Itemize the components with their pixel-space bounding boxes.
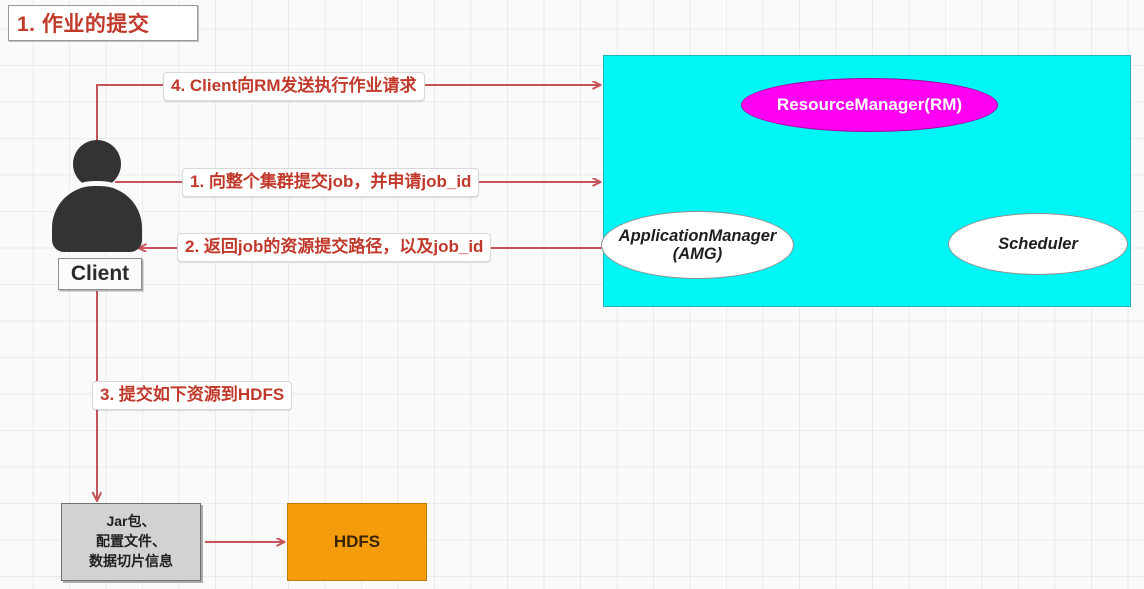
resources-line-1: Jar包、 [106, 512, 155, 532]
resources-line-2: 配置文件、 [96, 532, 166, 552]
client-person-icon [52, 140, 142, 255]
person-body-icon [52, 186, 142, 252]
diagram-canvas: 1. 作业的提交 Client ResourceManager(RM) Appl… [0, 0, 1144, 589]
flow-label-4: 4. Client向RM发送执行作业请求 [163, 72, 425, 101]
node-applicationmanager[interactable]: ApplicationManager (AMG) [601, 211, 794, 279]
resources-box: Jar包、 配置文件、 数据切片信息 [61, 503, 201, 581]
client-label-box: Client [58, 258, 142, 290]
resources-line-3: 数据切片信息 [89, 552, 173, 572]
page-title-text: 1. 作业的提交 [17, 8, 149, 38]
person-head-icon [73, 140, 121, 188]
hdfs-label: HDFS [334, 532, 380, 552]
node-applicationmanager-label-line2: (AMG) [673, 245, 722, 263]
resource-manager-container: ResourceManager(RM) ApplicationManager (… [603, 55, 1131, 307]
node-applicationmanager-label: ApplicationManager (AMG) [619, 227, 777, 264]
page-title: 1. 作业的提交 [8, 5, 198, 41]
hdfs-box: HDFS [287, 503, 427, 581]
node-applicationmanager-label-line1: ApplicationManager [619, 227, 777, 245]
node-resourcemanager-label: ResourceManager(RM) [777, 95, 962, 114]
flow-label-1: 1. 向整个集群提交job，并申请job_id [182, 168, 479, 197]
flow-label-3: 3. 提交如下资源到HDFS [92, 381, 292, 410]
flow-label-2: 2. 返回job的资源提交路径，以及job_id [177, 233, 491, 262]
node-resourcemanager[interactable]: ResourceManager(RM) [741, 78, 998, 132]
node-scheduler[interactable]: Scheduler [948, 213, 1128, 275]
client-label-text: Client [71, 262, 129, 286]
node-scheduler-label: Scheduler [998, 235, 1078, 253]
